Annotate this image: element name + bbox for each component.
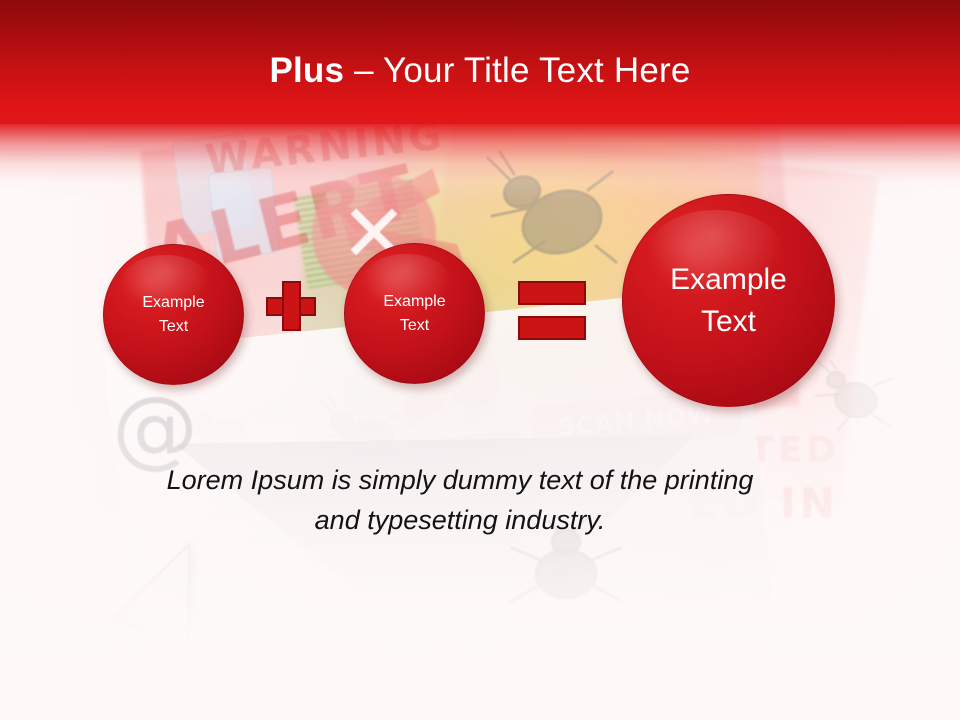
page-title-strong: Plus — [269, 51, 344, 90]
diagram-node-3-label: Example Text — [670, 259, 787, 343]
caption-line-1: Lorem Ipsum is simply dummy text of the … — [167, 465, 754, 495]
plus-center-fill — [284, 299, 299, 314]
diagram-node-1-label: Example Text — [142, 291, 204, 339]
equals-bar-bottom — [518, 316, 586, 340]
diagram-node-2-line2: Text — [400, 317, 429, 334]
equals-bar-top — [518, 281, 586, 305]
page-title-rest: – Your Title Text Here — [344, 51, 690, 90]
diagram-node-1-line1: Example — [142, 294, 204, 311]
equals-sign-icon — [518, 281, 586, 340]
diagram-node-3-line1: Example — [670, 263, 787, 296]
page-title: Plus – Your Title Text Here — [0, 49, 960, 93]
caption-text: Lorem Ipsum is simply dummy text of the … — [110, 460, 810, 540]
caption-line-2: and typesetting industry. — [315, 505, 606, 535]
diagram-node-1-line2: Text — [159, 318, 188, 335]
diagram-node-2-label: Example Text — [383, 290, 445, 338]
slide-canvas: WARNING ALERT VIRUS ✕ — [0, 0, 960, 720]
plus-sign-icon — [266, 281, 316, 331]
diagram-node-3[interactable]: Example Text — [622, 194, 835, 407]
diagram-node-2[interactable]: Example Text — [344, 243, 485, 384]
diagram-node-1[interactable]: Example Text — [103, 244, 244, 385]
diagram-node-3-line2: Text — [701, 305, 756, 338]
diagram-node-2-line1: Example — [383, 293, 445, 310]
